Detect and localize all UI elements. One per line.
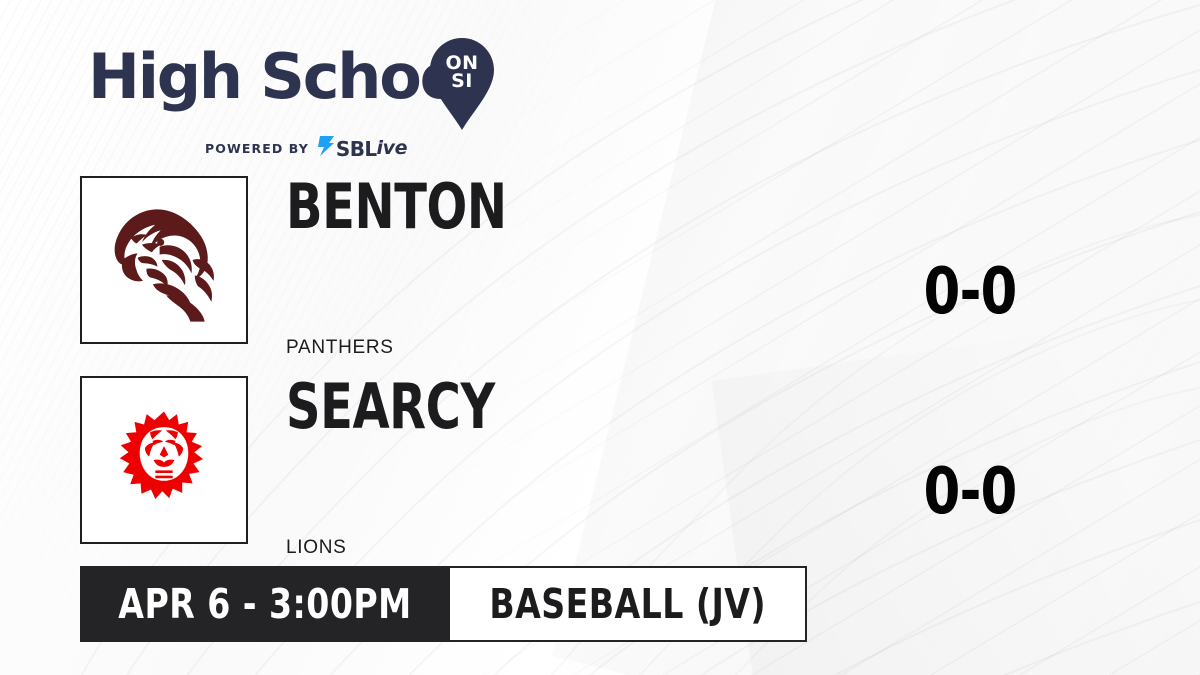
- sblive-wordmark: SBL ive: [316, 136, 407, 161]
- team-mascot: LIONS: [286, 537, 347, 559]
- sblive-bolt-icon: [316, 136, 334, 161]
- brand-lockup: High School ON SI POWERED BY SBL ive: [88, 32, 508, 142]
- team-mascot: PANTHERS: [286, 337, 394, 359]
- team-name: BENTON: [286, 176, 507, 238]
- lion-head-logo-icon: [112, 408, 216, 512]
- team-logo-box: [80, 376, 248, 544]
- powered-by-lockup: POWERED BY SBL ive: [205, 136, 407, 161]
- team-record: 0-0: [869, 460, 1071, 524]
- game-datetime: APR 6 - 3:00PM: [80, 566, 450, 642]
- game-datetime-text: APR 6 - 3:00PM: [118, 584, 411, 625]
- brand-title: High School: [88, 46, 479, 108]
- sblive-suffix-text: ive: [377, 139, 408, 158]
- on-si-pin-icon: ON SI: [430, 38, 494, 130]
- game-sport: BASEBALL (JV): [450, 566, 807, 642]
- panther-head-logo-icon: [98, 194, 230, 326]
- game-info-bar: APR 6 - 3:00PM BASEBALL (JV): [80, 566, 807, 642]
- sblive-main-text: SBL: [336, 139, 377, 159]
- game-sport-text: BASEBALL (JV): [489, 584, 766, 625]
- matchup-graphic: High School ON SI POWERED BY SBL ive: [0, 0, 1200, 675]
- powered-by-label: POWERED BY: [205, 141, 309, 156]
- pin-label-si: SI: [430, 72, 494, 90]
- team-logo-box: [80, 176, 248, 344]
- team-record: 0-0: [869, 260, 1071, 324]
- team-name: SEARCY: [286, 376, 495, 438]
